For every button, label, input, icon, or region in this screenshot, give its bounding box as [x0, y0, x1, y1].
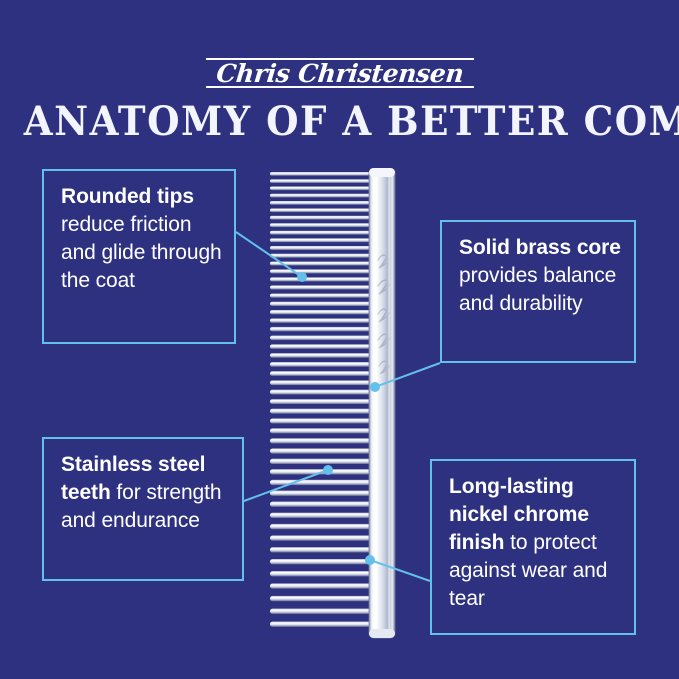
- comb-spine: [369, 168, 395, 638]
- callout-rounded-tips-body: reduce friction and glide through the co…: [61, 213, 222, 292]
- callout-solid-brass-core-lead: Solid brass core: [459, 236, 621, 259]
- callout-rounded-tips[interactable]: Rounded tips reduce friction and glide t…: [42, 169, 236, 344]
- brand-logo: Chris Christensen: [206, 56, 474, 92]
- callout-stainless-steel-teeth[interactable]: Stainless steel teeth for strength and e…: [42, 437, 244, 581]
- callout-solid-brass-core[interactable]: Solid brass core provides balance and du…: [440, 220, 636, 363]
- comb-teeth: [270, 172, 373, 627]
- brand-rule-bottom: [206, 86, 474, 88]
- callout-rounded-tips-lead: Rounded tips: [61, 185, 194, 208]
- callout-solid-brass-core-body: provides balance and durability: [459, 264, 616, 315]
- callout-nickel-chrome-finish[interactable]: Long-lasting nickel chrome finish to pro…: [430, 459, 636, 635]
- comb-illustration: [268, 168, 408, 640]
- page-title: ANATOMY OF A BETTER COMB: [24, 100, 655, 144]
- infographic-canvas: Chris Christensen ANATOMY OF A BETTER CO…: [0, 0, 679, 679]
